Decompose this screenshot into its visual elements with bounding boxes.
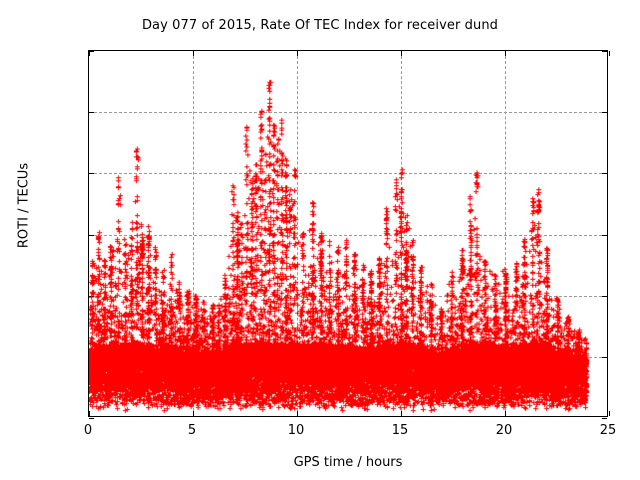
roti-scatter-figure: Day 077 of 2015, Rate Of TEC Index for r… xyxy=(0,0,640,480)
plot-area xyxy=(88,50,608,417)
scatter-points-layer xyxy=(89,51,607,416)
y-tick-mark xyxy=(602,418,607,419)
y-tick-mark xyxy=(89,418,94,419)
x-tick-mark xyxy=(609,51,610,56)
x-tick-mark xyxy=(609,411,610,416)
page-title: Day 077 of 2015, Rate Of TEC Index for r… xyxy=(0,18,640,33)
y-axis-label: ROTI / TECUs xyxy=(17,116,32,296)
x-axis-label: GPS time / hours xyxy=(88,455,608,470)
